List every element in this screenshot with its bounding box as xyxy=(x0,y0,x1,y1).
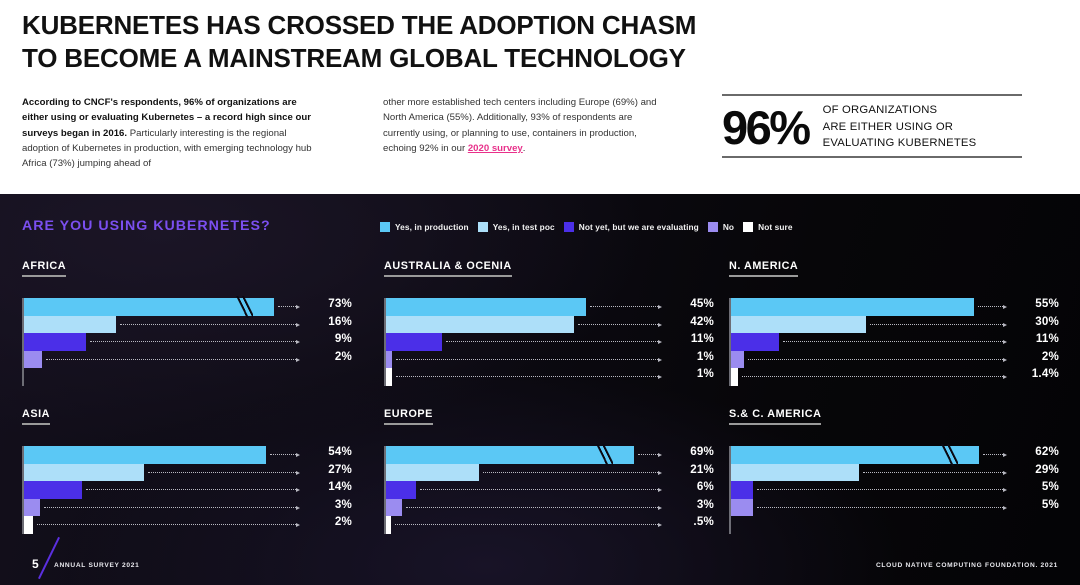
chart-bar-row: 16% xyxy=(22,316,352,334)
chart-bar xyxy=(24,499,40,517)
chart-bar xyxy=(24,481,82,499)
chart-bar-row: .5% xyxy=(384,516,714,534)
chart-bar-row: 6% xyxy=(384,481,714,499)
chart-bar xyxy=(731,481,753,499)
chart-leader-line xyxy=(742,376,1003,377)
chart-value-label: 27% xyxy=(300,463,352,476)
chart-leader-line xyxy=(783,341,1003,342)
chart-leader-line xyxy=(870,324,1003,325)
chart-leader-line xyxy=(37,524,296,525)
chart-value-label: 9% xyxy=(300,332,352,345)
chart-value-label: 16% xyxy=(300,315,352,328)
chart-region-title: S.& C. AMERICA xyxy=(729,408,821,425)
chart-leader-line xyxy=(148,472,296,473)
chart-panel-n-america: N. AMERICA55%30%11%2%1.4% xyxy=(729,256,1059,386)
chart-panel-europe: EUROPE69%21%6%3%.5% xyxy=(384,404,714,534)
page-title: KUBERNETES HAS CROSSED THE ADOPTION CHAS… xyxy=(22,10,1042,76)
chart-leader-line xyxy=(270,454,296,455)
chart-leader-line xyxy=(446,341,658,342)
chart-region-title: EUROPE xyxy=(384,408,433,425)
chart-value-label: 21% xyxy=(662,463,714,476)
chart-panel-s-c-america: S.& C. AMERICA62%29%5%5% xyxy=(729,404,1059,534)
chart-bar xyxy=(386,298,586,316)
chart-plot-area: 55%30%11%2%1.4% xyxy=(729,298,1059,386)
chart-bar-row: 5% xyxy=(729,481,1059,499)
chart-value-label: 30% xyxy=(1007,315,1059,328)
chart-value-label: 2% xyxy=(300,515,352,528)
chart-leader-line xyxy=(590,306,658,307)
chart-leader-line xyxy=(757,489,1003,490)
chart-value-label: 42% xyxy=(662,315,714,328)
chart-leader-line xyxy=(978,306,1003,307)
chart-bar xyxy=(24,464,144,482)
chart-bar-row: 9% xyxy=(22,333,352,351)
chart-bar-row: 55% xyxy=(729,298,1059,316)
chart-bar xyxy=(731,464,859,482)
chart-leader-line xyxy=(396,376,658,377)
chart-bar-row: 3% xyxy=(384,499,714,517)
chart-value-label: 3% xyxy=(300,498,352,511)
chart-bar-row: 69% xyxy=(384,446,714,464)
chart-value-label: 3% xyxy=(662,498,714,511)
chart-bar-row: 1% xyxy=(384,368,714,386)
chart-bar-row: 3% xyxy=(22,499,352,517)
chart-leader-line xyxy=(748,359,1003,360)
chart-leader-line xyxy=(395,524,658,525)
chart-bar-row: 14% xyxy=(22,481,352,499)
chart-plot-area: 69%21%6%3%.5% xyxy=(384,446,714,534)
charts-section: ARE YOU USING KUBERNETES? Yes, in produc… xyxy=(0,194,1080,585)
chart-leader-line xyxy=(46,359,296,360)
chart-leader-line xyxy=(578,324,658,325)
chart-panel-australia-ocenia: AUSTRALIA & OCENIA45%42%11%1%1% xyxy=(384,256,714,386)
chart-value-label: 5% xyxy=(1007,480,1059,493)
page-title-line1: KUBERNETES HAS CROSSED THE ADOPTION CHAS… xyxy=(22,12,696,40)
chart-value-label: .5% xyxy=(662,515,714,528)
chart-bar-row: 54% xyxy=(22,446,352,464)
chart-bar xyxy=(386,499,402,517)
stat-value: 96% xyxy=(722,104,809,151)
chart-leader-line xyxy=(638,454,658,455)
chart-value-label: 1.4% xyxy=(1007,367,1059,380)
chart-bar-row: 2% xyxy=(22,516,352,534)
chart-bar xyxy=(24,316,116,334)
chart-plot-area: 73%16%9%2% xyxy=(22,298,352,386)
chart-bar-row: 45% xyxy=(384,298,714,316)
footer-left-label: ANNUAL SURVEY 2021 xyxy=(54,562,140,569)
chart-value-label: 55% xyxy=(1007,297,1059,310)
chart-bar xyxy=(386,516,391,534)
chart-bar-row: 5% xyxy=(729,499,1059,517)
chart-panel-africa: AFRICA73%16%9%2% xyxy=(22,256,352,386)
chart-bar-row: 11% xyxy=(729,333,1059,351)
stat-line-1: OF ORGANIZATIONS xyxy=(823,102,977,119)
chart-bar xyxy=(731,298,974,316)
stat-description: OF ORGANIZATIONS ARE EITHER USING OR EVA… xyxy=(823,102,977,152)
chart-region-title: N. AMERICA xyxy=(729,260,798,277)
chart-leader-line xyxy=(483,472,658,473)
chart-bar-row: 73% xyxy=(22,298,352,316)
chart-panel-asia: ASIA54%27%14%3%2% xyxy=(22,404,352,534)
chart-leader-line xyxy=(278,306,296,307)
chart-bar xyxy=(386,368,392,386)
chart-region-title: AUSTRALIA & OCENIA xyxy=(384,260,512,277)
chart-bar xyxy=(731,351,744,369)
chart-leader-line xyxy=(406,507,658,508)
chart-bar xyxy=(386,351,392,369)
chart-bar xyxy=(24,298,274,316)
chart-region-title: ASIA xyxy=(22,408,50,425)
chart-value-label: 2% xyxy=(300,350,352,363)
chart-bar xyxy=(731,446,979,464)
chart-bar xyxy=(24,333,86,351)
chart-bar xyxy=(24,351,42,369)
chart-bar xyxy=(731,368,738,386)
chart-bar-row: 27% xyxy=(22,464,352,482)
chart-leader-line xyxy=(90,341,296,342)
chart-bar-row: 42% xyxy=(384,316,714,334)
chart-bar-row: 2% xyxy=(22,351,352,369)
chart-leader-line xyxy=(863,472,1003,473)
chart-value-label: 62% xyxy=(1007,445,1059,458)
chart-bar-row: 62% xyxy=(729,446,1059,464)
chart-bar xyxy=(386,481,416,499)
chart-value-label: 14% xyxy=(300,480,352,493)
survey-2020-link[interactable]: 2020 survey xyxy=(468,143,523,154)
intro-paragraph-right: other more established tech centers incl… xyxy=(383,95,668,156)
chart-value-label: 69% xyxy=(662,445,714,458)
charts-grid: AFRICA73%16%9%2%AUSTRALIA & OCENIA45%42%… xyxy=(0,194,1080,585)
chart-leader-line xyxy=(420,489,658,490)
chart-leader-line xyxy=(983,454,1003,455)
chart-plot-area: 45%42%11%1%1% xyxy=(384,298,714,386)
chart-bar-row: 29% xyxy=(729,464,1059,482)
chart-value-label: 45% xyxy=(662,297,714,310)
chart-value-label: 1% xyxy=(662,350,714,363)
chart-value-label: 6% xyxy=(662,480,714,493)
header-section: KUBERNETES HAS CROSSED THE ADOPTION CHAS… xyxy=(0,0,1080,194)
intro-paragraph-left: According to CNCF's respondents, 96% of … xyxy=(22,95,322,172)
chart-bar xyxy=(24,446,266,464)
chart-value-label: 5% xyxy=(1007,498,1059,511)
chart-bar-row: 1.4% xyxy=(729,368,1059,386)
stat-line-2: ARE EITHER USING OR xyxy=(823,119,977,136)
chart-plot-area: 62%29%5%5% xyxy=(729,446,1059,534)
chart-bar xyxy=(731,333,779,351)
intro-col2-period: . xyxy=(523,143,526,154)
chart-value-label: 2% xyxy=(1007,350,1059,363)
chart-bar-row: 1% xyxy=(384,351,714,369)
chart-leader-line xyxy=(757,507,1003,508)
chart-leader-line xyxy=(44,507,296,508)
chart-region-title: AFRICA xyxy=(22,260,66,277)
chart-bar xyxy=(386,333,442,351)
chart-leader-line xyxy=(396,359,658,360)
chart-plot-area: 54%27%14%3%2% xyxy=(22,446,352,534)
chart-value-label: 1% xyxy=(662,367,714,380)
chart-value-label: 29% xyxy=(1007,463,1059,476)
footer-right-label: CLOUD NATIVE COMPUTING FOUNDATION. 2021 xyxy=(876,562,1058,569)
page-number: 5 xyxy=(32,557,39,571)
stat-line-3: EVALUATING KUBERNETES xyxy=(823,135,977,152)
chart-value-label: 73% xyxy=(300,297,352,310)
chart-bar xyxy=(386,446,634,464)
chart-bar-row: 21% xyxy=(384,464,714,482)
chart-bar xyxy=(731,499,753,517)
chart-bar-row: 11% xyxy=(384,333,714,351)
page-title-line2: TO BECOME A MAINSTREAM GLOBAL TECHNOLOGY xyxy=(22,43,1042,76)
chart-leader-line xyxy=(86,489,296,490)
chart-bar-row: 2% xyxy=(729,351,1059,369)
chart-leader-line xyxy=(120,324,296,325)
stat-callout: 96% OF ORGANIZATIONS ARE EITHER USING OR… xyxy=(722,94,1022,158)
chart-bar-row: 30% xyxy=(729,316,1059,334)
chart-value-label: 54% xyxy=(300,445,352,458)
chart-value-label: 11% xyxy=(662,332,714,345)
chart-bar xyxy=(386,316,574,334)
stat-bottom-rule xyxy=(722,156,1022,158)
chart-value-label: 11% xyxy=(1007,332,1059,345)
chart-bar xyxy=(386,464,479,482)
chart-bar xyxy=(24,516,33,534)
chart-bar xyxy=(731,316,866,334)
